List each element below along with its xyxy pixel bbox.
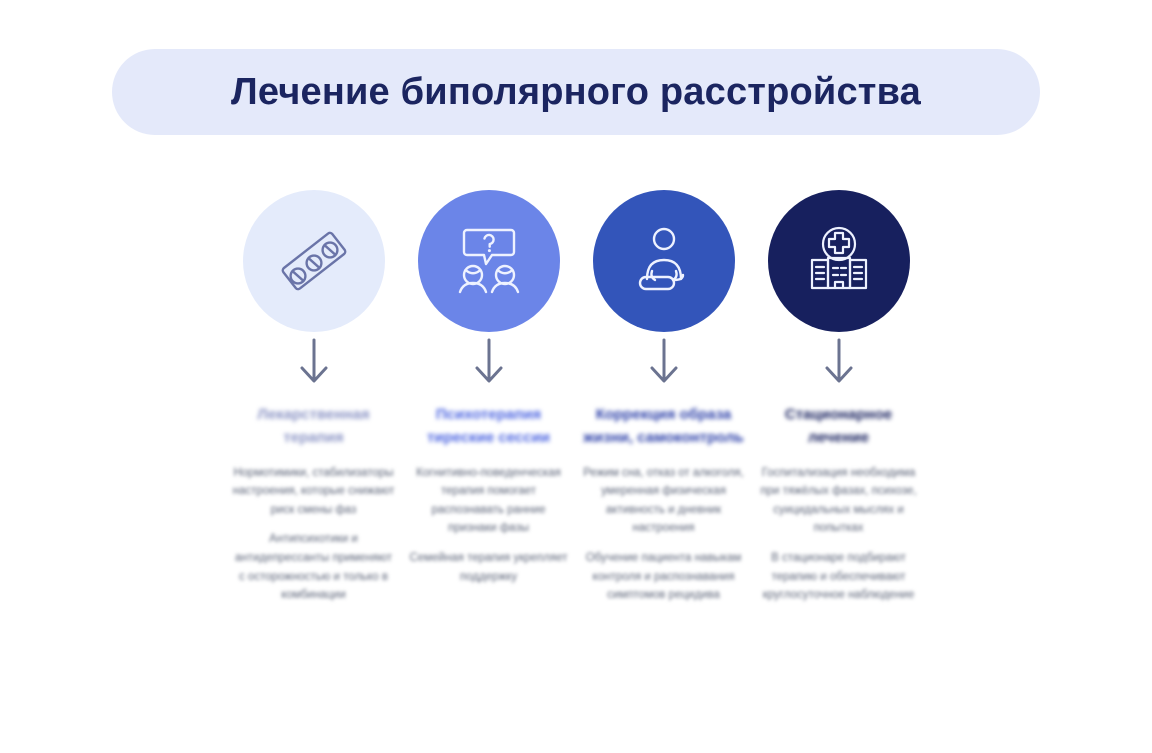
meditating-person-icon [625,222,703,300]
pill-blister-pack-icon [275,222,353,300]
connector-arrow-3 [634,338,694,390]
infographic-canvas: Лечение биполярного расстройства [0,0,1152,753]
column-paragraph: Обучение пациента навыкам контроля и рас… [581,549,746,605]
text-block-psychotherapy: Психотерапия тиреские сессии Когнитивно-… [406,404,571,586]
column-paragraph: Когнитивно-поведенческая терапия помогае… [406,464,571,539]
column-heading: Стационарное лечение [756,404,921,450]
text-block-inpatient: Стационарное лечение Госпитализация необ… [756,404,921,605]
column-paragraph: Нормотимики, стабилизаторы настроения, к… [231,464,396,520]
connector-arrow-2 [459,338,519,390]
treatment-columns: Лекарственная терапия Нормотимики, стаби… [231,190,921,710]
column-paragraph: В стационаре подбирают терапию и обеспеч… [756,549,921,605]
column-heading: Лекарственная терапия [231,404,396,450]
hospital-building-cross-icon [800,222,878,300]
column-paragraph: Семейная терапия укрепляет поддержку [406,549,571,586]
text-block-medication: Лекарственная терапия Нормотимики, стаби… [231,404,396,605]
icon-circle-psychotherapy [418,190,560,332]
column-heading: Психотерапия тиреские сессии [406,404,571,450]
connector-arrow-1 [284,338,344,390]
treatment-column-medication: Лекарственная терапия Нормотимики, стаби… [231,190,396,710]
text-block-lifestyle: Коррекция образа жизни, самоконтроль Реж… [581,404,746,605]
connector-arrow-4 [809,338,869,390]
treatment-column-inpatient: Стационарное лечение Госпитализация необ… [756,190,921,710]
icon-circle-inpatient [768,190,910,332]
icon-circle-lifestyle [593,190,735,332]
icon-circle-medication [243,190,385,332]
treatment-column-psychotherapy: Психотерапия тиреские сессии Когнитивно-… [406,190,571,710]
title-banner: Лечение биполярного расстройства [112,49,1040,135]
column-paragraph: Госпитализация необходима при тяжёлых фа… [756,464,921,539]
column-heading: Коррекция образа жизни, самоконтроль [581,404,746,450]
two-people-question-bubble-icon [450,222,528,300]
column-paragraph: Режим сна, отказ от алкоголя, умеренная … [581,464,746,539]
treatment-column-lifestyle: Коррекция образа жизни, самоконтроль Реж… [581,190,746,710]
column-paragraph: Антипсихотики и антидепрессанты применяю… [231,530,396,605]
page-title: Лечение биполярного расстройства [231,71,921,114]
